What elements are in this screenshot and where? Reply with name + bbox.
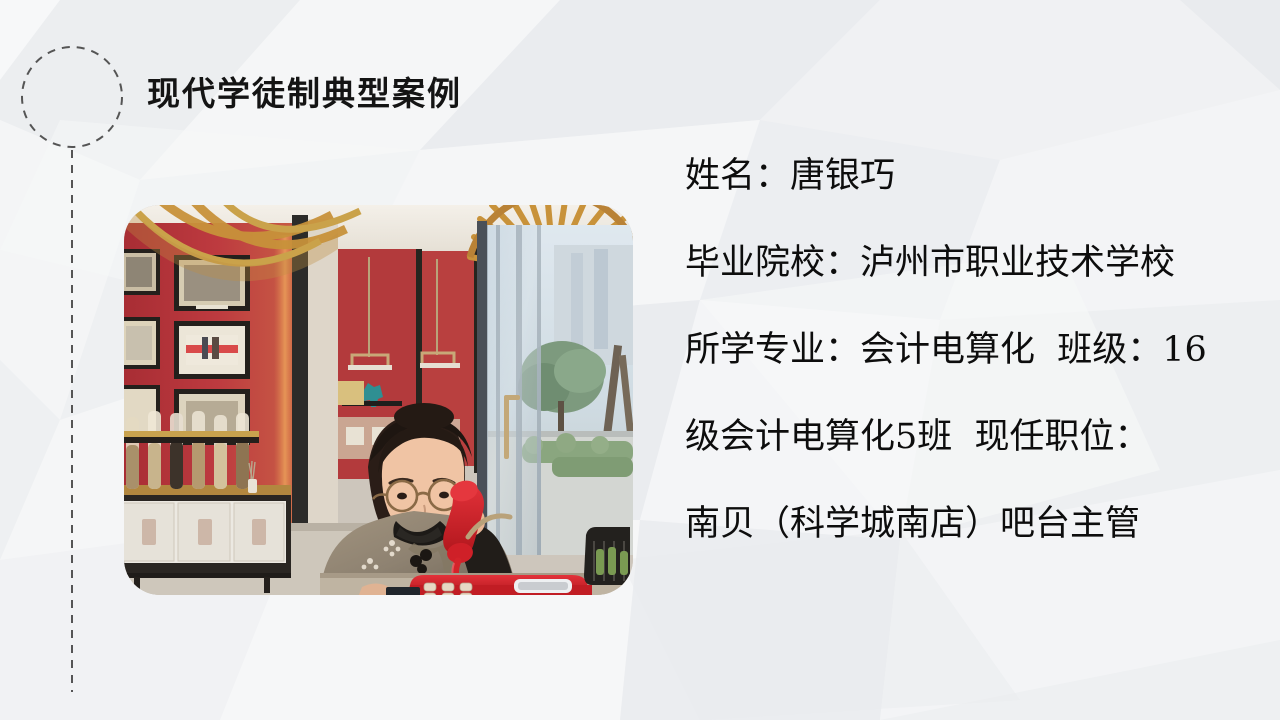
- info-line-school: 毕业院校：泸州市职业技术学校: [685, 220, 1260, 307]
- case-photo: [124, 205, 633, 595]
- info-line-name: 姓名：唐银巧: [685, 133, 1260, 220]
- photo-illustration: [124, 205, 633, 595]
- student-info-block: 姓名：唐银巧 毕业院校：泸州市职业技术学校 所学专业：会计电算化 班级：16 级…: [685, 133, 1260, 568]
- slide-root: 现代学徒制典型案例: [0, 0, 1280, 720]
- dashed-circle: [22, 47, 122, 147]
- info-line-position: 南贝（科学城南店）吧台主管: [685, 481, 1260, 568]
- page-title: 现代学徒制典型案例: [147, 74, 462, 114]
- info-line-class: 级会计电算化5班 现任职位：: [685, 394, 1260, 481]
- info-line-major: 所学专业：会计电算化 班级：16: [685, 307, 1260, 394]
